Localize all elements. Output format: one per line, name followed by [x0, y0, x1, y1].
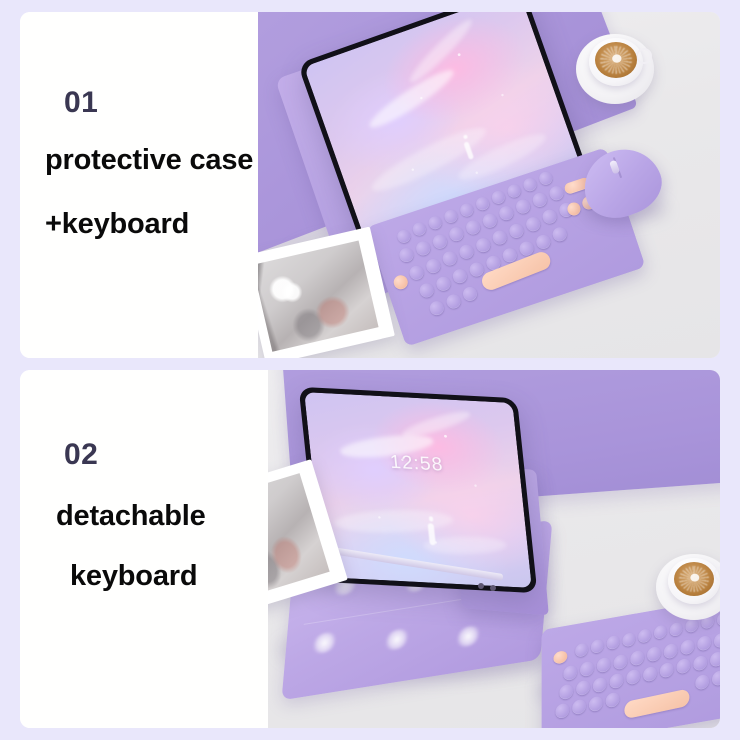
panel-01-caption: 01 protective case +keyboard [20, 12, 258, 358]
product-feature-page: 01 protective case +keyboard [0, 0, 740, 740]
magnet-point [383, 628, 410, 653]
wallpaper-figure-head [429, 516, 434, 521]
tablet-port-dot [478, 583, 484, 589]
panel-02-caption: 02 detachable keyboard [20, 370, 268, 728]
panel-01-heading-line1: protective case [45, 144, 253, 177]
panel-01-heading-line2: +keyboard [45, 208, 189, 241]
magnet-point [454, 624, 481, 649]
latte-art [674, 562, 714, 596]
panel-02-photo: 12:58 [268, 370, 720, 728]
tablet-port-dot [490, 585, 496, 591]
panel-01-photo [258, 12, 720, 358]
wallpaper-figure [464, 141, 475, 160]
mouse-scroll-wheel[interactable] [609, 160, 620, 175]
wallpaper-figure-head [463, 135, 468, 140]
panel-02-index: 02 [64, 438, 98, 472]
feature-panel-02: 02 detachable keyboard [20, 370, 720, 728]
wallpaper-figure [428, 524, 436, 546]
feature-panel-01: 01 protective case +keyboard [20, 12, 720, 358]
magnet-point [311, 631, 338, 656]
panel-02-heading-line2: keyboard [70, 560, 197, 593]
latte-art [595, 42, 637, 78]
magazine-photo [268, 473, 330, 600]
panel-02-heading-line1: detachable [56, 500, 206, 533]
tablet-clock: 12:58 [389, 452, 444, 477]
magazine-photo [258, 240, 379, 351]
cup-handle [636, 48, 652, 64]
panel-01-index: 01 [64, 86, 98, 120]
